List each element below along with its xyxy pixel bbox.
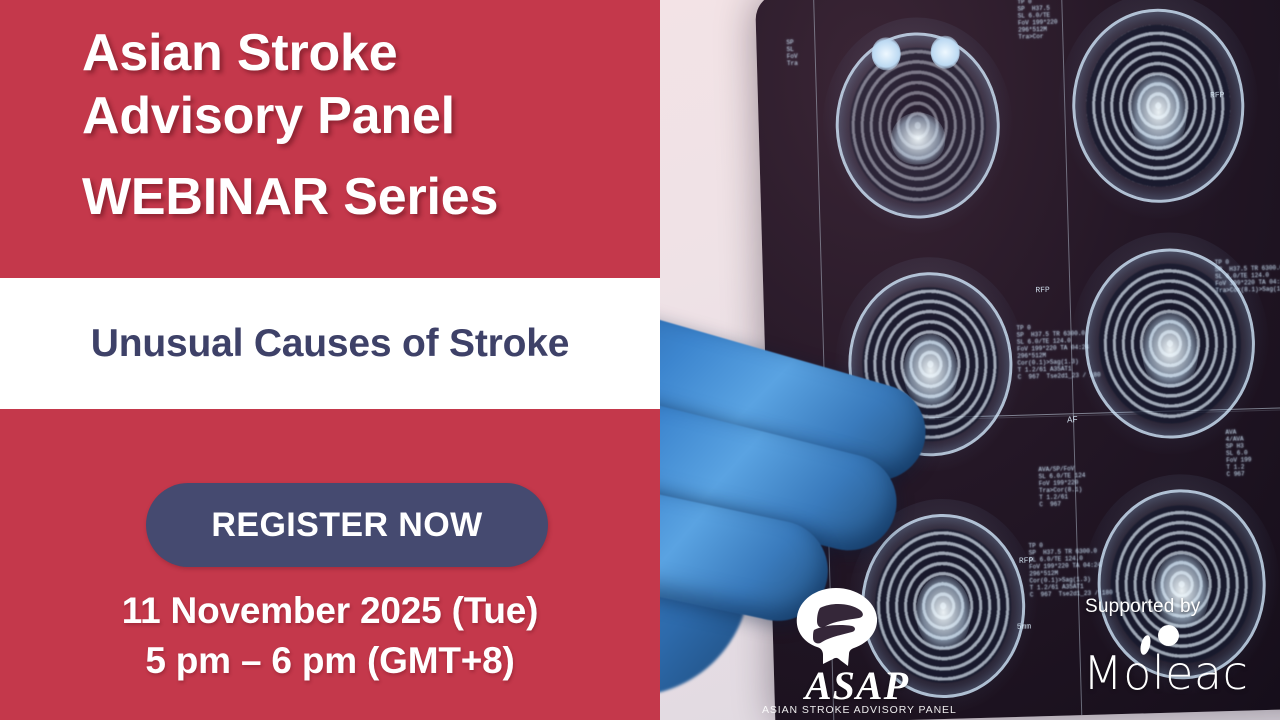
title-line-2: Advisory Panel	[82, 85, 642, 148]
scan-annotation: SP SL FoV Tra	[786, 39, 798, 67]
brain-icon	[790, 586, 886, 666]
scan-annotation-rfp: RFP	[1210, 91, 1225, 100]
moleac-logo: Supported by Moleac	[1085, 596, 1235, 706]
scan-annotation: AVA/SP/FoV SL 6.0/TE 124 FoV 199*220 Tra…	[1038, 465, 1086, 508]
left-red-panel: Asian Stroke Advisory Panel WEBINAR Seri…	[0, 0, 660, 720]
register-now-button[interactable]: REGISTER NOW	[146, 483, 548, 567]
supported-by-label: Supported by	[1085, 596, 1200, 618]
scan-annotation: TP 0 SP H37.5 TR 6300.0 SL 6.0/TE 124.0 …	[1028, 540, 1112, 598]
title-line-1: Asian Stroke	[82, 22, 642, 85]
asap-tagline: ASIAN STROKE ADVISORY PANEL	[762, 704, 952, 716]
mri-photo-panel: SP SL FoV Tra TP 0 SP H37.5 SL 6.0/TE Fo…	[660, 0, 1280, 720]
event-time: 5 pm – 6 pm (GMT+8)	[0, 636, 660, 686]
subtitle-band: Unusual Causes of Stroke	[0, 278, 660, 409]
scan-annotation: TP 0 SP H37.5 SL 6.0/TE FoV 199*220 296*…	[1017, 0, 1058, 41]
asap-logo: ASAP ASIAN STROKE ADVISORY PANEL	[762, 586, 952, 716]
event-date: 11 November 2025 (Tue)	[0, 586, 660, 636]
title-line-3: WEBINAR Series	[82, 166, 642, 229]
brain-scan-icon	[820, 15, 1016, 236]
scan-annotation: AVA 4/AVA SP H3 SL 6.0 FoV 199 T 1.2 C 9…	[1225, 428, 1252, 478]
scan-annotation-rfp: RFP	[1035, 286, 1050, 295]
scan-annotation-af: AF	[1067, 415, 1078, 425]
asap-wordmark: ASAP	[762, 662, 952, 709]
scan-annotation: TP 0 SP H37.5 TR 6300.0 SL 6.0/TE 124.0 …	[1215, 257, 1280, 294]
moleac-dot-icon	[1158, 625, 1179, 646]
webinar-subtitle: Unusual Causes of Stroke	[91, 322, 570, 366]
register-button-label: REGISTER NOW	[211, 506, 482, 545]
webinar-banner: Asian Stroke Advisory Panel WEBINAR Seri…	[0, 0, 1280, 720]
brain-scan-icon	[1055, 0, 1261, 222]
page-title: Asian Stroke Advisory Panel WEBINAR Seri…	[82, 22, 642, 229]
brain-scan-icon	[1275, 0, 1280, 195]
moleac-wordmark: Moleac	[1083, 646, 1248, 700]
event-datetime: 11 November 2025 (Tue) 5 pm – 6 pm (GMT+…	[0, 586, 660, 686]
